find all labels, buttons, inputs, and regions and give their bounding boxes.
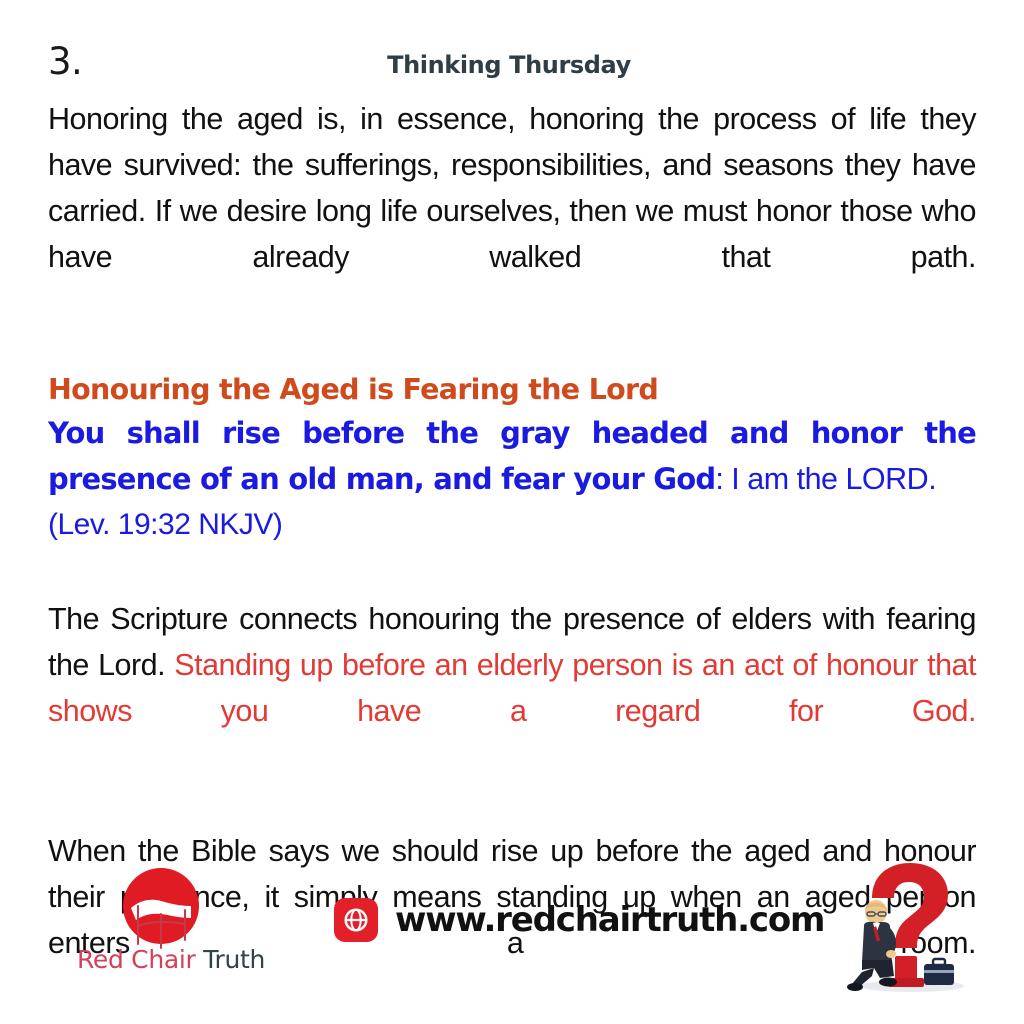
brand-name-part2: Truth [203, 945, 265, 974]
spacer [48, 326, 976, 370]
scripture-verse: You shall rise before the gray headed an… [48, 410, 976, 502]
scripture-reference: (Lev. 19:32 NKJV) [48, 502, 976, 548]
website-link[interactable]: www.redchairtruth.com [334, 898, 824, 942]
brand-wordmark: Red Chair Truth [66, 944, 276, 976]
red-chair-logo-icon [118, 866, 204, 952]
intro-paragraph: Honoring the aged is, in essence, honori… [48, 96, 976, 326]
businessman-figure [847, 900, 897, 991]
website-url-text: www.redchairtruth.com [395, 900, 824, 940]
globe-icon [334, 898, 378, 942]
spacer [48, 548, 976, 596]
explanation-paragraph: The Scripture connects honouring the pre… [48, 596, 976, 780]
slide-footer: Red Chair Truth www.redchairtruth.com [0, 866, 1024, 1006]
slide-header: 3. Thinking Thursday [0, 40, 1024, 96]
brand-name-part1: Red Chair [77, 945, 196, 974]
slide-page: 3. Thinking Thursday Honoring the aged i… [0, 0, 1024, 1024]
spacer [48, 780, 976, 828]
brand-logo[interactable]: Red Chair Truth [66, 866, 276, 986]
scripture-verse-plain: : I am the LORD. [715, 462, 936, 496]
series-title: Thinking Thursday [0, 50, 1024, 80]
section-sub-heading: Honouring the Aged is Fearing the Lord [48, 370, 976, 410]
explanation-emphasis-text: Standing up before an elderly person is … [48, 648, 976, 728]
question-mark-businessman-illustration [828, 860, 988, 996]
